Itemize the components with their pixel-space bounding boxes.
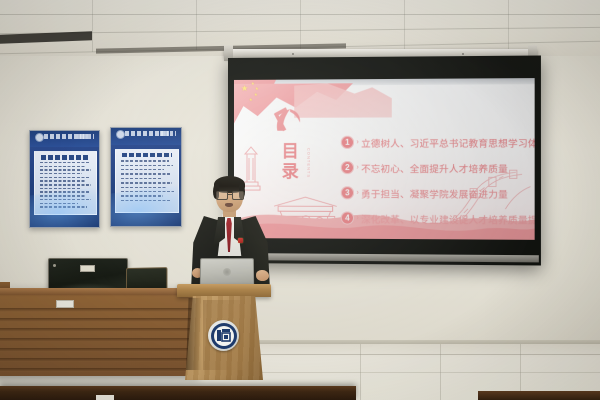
poster-header: [111, 128, 181, 145]
toc-arrow-icon: ›: [354, 215, 361, 222]
flag-star-large: ★: [241, 85, 248, 93]
laptop-logo-icon: [223, 268, 231, 276]
foreground-desk: [0, 386, 356, 400]
toc-item-text: 立德树人、习近平总书记教育思想学习体会: [361, 135, 535, 150]
toc-item-text: 勇于担当、凝聚学院发展奋进力量: [361, 186, 508, 201]
emblem-building-glyph-icon: [216, 328, 231, 343]
toc-item: 4 › 深化改革、以专业建设促人才培养质量提升: [341, 205, 533, 231]
toc-arrow-icon: ›: [354, 189, 361, 196]
party-emblem-hammer-sickle-icon: [270, 104, 306, 138]
toc-item: 2 › 不忘初心、全面提升人才培养质量: [341, 155, 533, 181]
poster-text-panel: [115, 149, 179, 214]
university-logo-icon: [35, 133, 44, 142]
party-lapel-pin: [238, 238, 243, 243]
poster-panel-title: [41, 155, 90, 159]
toc-number-badge: 3: [341, 186, 354, 199]
mouth: [225, 203, 233, 207]
toc-item: 1 › 立德树人、习近平总书记教育思想学习体会: [341, 129, 533, 155]
wall-poster-left: [29, 130, 100, 228]
foreground-desk-paper: [96, 395, 114, 400]
toc-item-text: 不忘初心、全面提升人才培养质量: [361, 161, 508, 175]
counter-top-surface: [0, 288, 199, 295]
flag-star-2: ★: [255, 87, 259, 91]
podium-university-emblem: [208, 320, 239, 351]
flag-star-4: ★: [249, 98, 253, 102]
slide-title-romanized: CONTENTS: [306, 148, 311, 178]
eyeglasses-icon: [216, 191, 243, 198]
toc-arrow-icon: ›: [354, 139, 361, 146]
university-logo-icon: [116, 130, 125, 139]
counter-asset-tag: [56, 300, 74, 308]
poster-header-subtitle: [160, 131, 176, 136]
monitor-power-led: [53, 264, 56, 267]
monitor-asset-tag: [80, 265, 95, 272]
housing-screw-right: [462, 53, 464, 55]
toc-number-badge: 4: [341, 211, 354, 224]
poster-header-subtitle: [78, 134, 94, 139]
toc-arrow-icon: ›: [354, 164, 361, 171]
wall-poster-right: [110, 127, 182, 227]
toc-number-badge: 1: [341, 136, 354, 149]
toc-item: 3 › 勇于担当、凝聚学院发展奋进力量: [341, 180, 533, 206]
flag-star-3: ★: [254, 93, 258, 97]
foreground-desk-right: [478, 391, 600, 400]
toc-item-text: 深化改革、以专业建设促人才培养质量提升: [361, 211, 535, 226]
laptop[interactable]: [200, 258, 254, 286]
equipment-counter: [0, 288, 199, 376]
podium-side-shadow: [186, 298, 202, 370]
toc-number-badge: 2: [341, 161, 354, 174]
podium-top: [177, 284, 271, 297]
housing-screw-left: [292, 53, 294, 55]
slide-title: 目录: [274, 142, 306, 182]
poster-panel-title: [122, 153, 171, 157]
podium: [177, 284, 271, 380]
slide-contents-list: 1 › 立德树人、习近平总书记教育思想学习体会 2 › 不忘初心、全面提升人才培…: [341, 129, 533, 231]
presentation-slide: ★ ★ ★ ★ ★ 目录 CONTENTS: [234, 78, 535, 240]
hand-right: [256, 270, 269, 281]
lecture-hall-photo: ★ ★ ★ ★ ★ 目录 CONTENTS: [0, 0, 600, 400]
poster-text-panel: [34, 151, 97, 214]
poster-header: [30, 131, 99, 147]
